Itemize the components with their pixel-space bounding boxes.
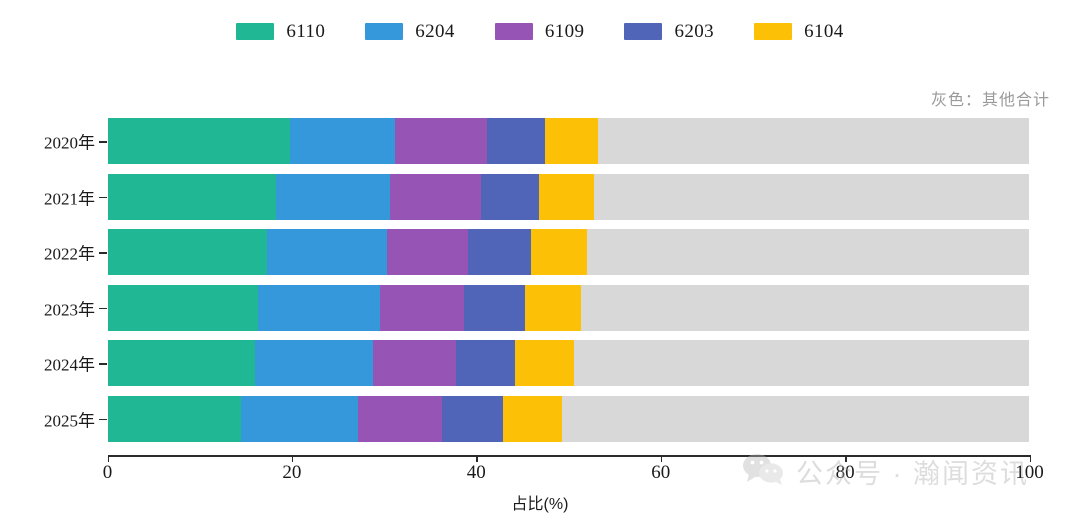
bar-segment-6203[interactable] [442, 396, 503, 442]
legend-swatch-icon [754, 23, 792, 40]
legend-swatch-icon [365, 23, 403, 40]
x-axis-title: 占比(%) [0, 490, 1080, 514]
x-tick-label: 80 [836, 462, 855, 484]
bar-segment-6204[interactable] [276, 174, 389, 220]
legend-swatch-icon [624, 23, 662, 40]
stacked-bar-chart: 61106204610962036104 灰色：其他合计 02040608010… [0, 0, 1080, 519]
x-tick-mark [476, 455, 478, 462]
y-tick-mark [99, 252, 107, 254]
x-tick-mark [108, 455, 110, 462]
x-tick-mark [1030, 455, 1032, 462]
y-tick-label: 2022年 [44, 240, 95, 265]
plot-area [108, 118, 1030, 455]
bar-segment-6104[interactable] [525, 285, 581, 331]
bar-segment-其他合计[interactable] [574, 340, 1029, 386]
x-axis-line [108, 455, 1030, 457]
bar-segment-其他合计[interactable] [562, 396, 1029, 442]
legend-item-label: 6109 [545, 22, 585, 41]
bar-segment-6204[interactable] [241, 396, 358, 442]
y-tick-label: 2024年 [44, 351, 95, 376]
x-tick-mark [845, 455, 847, 462]
bar-segment-6204[interactable] [290, 118, 395, 164]
legend-item-6109[interactable]: 6109 [495, 22, 585, 41]
bar-segment-其他合计[interactable] [587, 229, 1030, 275]
bar-segment-6203[interactable] [481, 174, 539, 220]
y-tick-label: 2021年 [44, 184, 95, 209]
legend-item-label: 6204 [415, 22, 455, 41]
bar-segment-6104[interactable] [539, 174, 594, 220]
legend-item-6104[interactable]: 6104 [754, 22, 844, 41]
bar-segment-6109[interactable] [380, 285, 464, 331]
bar-segment-6109[interactable] [358, 396, 442, 442]
y-tick-mark [99, 363, 107, 365]
bar-segment-6104[interactable] [545, 118, 598, 164]
bar-segment-6109[interactable] [390, 174, 481, 220]
y-tick-mark [99, 308, 107, 310]
x-tick-mark [661, 455, 663, 462]
bar-segment-6203[interactable] [487, 118, 545, 164]
bar-segment-6109[interactable] [395, 118, 487, 164]
bar-segment-6204[interactable] [258, 285, 381, 331]
bar-segment-6110[interactable] [108, 118, 291, 164]
x-tick-label: 0 [103, 462, 113, 484]
x-tick-mark [292, 455, 294, 462]
bar-segment-6110[interactable] [108, 229, 268, 275]
wechat-icon [742, 453, 786, 490]
x-tick-label: 60 [651, 462, 670, 484]
bar-segment-6104[interactable] [531, 229, 587, 275]
bar-segment-6110[interactable] [108, 285, 258, 331]
bar-segment-6109[interactable] [387, 229, 468, 275]
x-tick-label: 100 [1015, 462, 1044, 484]
legend-item-label: 6203 [674, 22, 714, 41]
watermark-text: 公众号 · 瀚闻资讯 [796, 452, 1029, 491]
legend-item-6204[interactable]: 6204 [365, 22, 455, 41]
bar-row [108, 174, 1030, 220]
y-tick-label: 2020年 [44, 129, 95, 154]
gray-series-note: 灰色：其他合计 [931, 86, 1050, 110]
bar-segment-6203[interactable] [468, 229, 531, 275]
bar-segment-6104[interactable] [515, 340, 574, 386]
bar-segment-6110[interactable] [108, 340, 256, 386]
bar-row [108, 396, 1030, 442]
legend-swatch-icon [495, 23, 533, 40]
y-tick-label: 2025年 [44, 406, 95, 431]
bar-segment-6109[interactable] [373, 340, 456, 386]
bar-segment-6110[interactable] [108, 174, 277, 220]
x-tick-label: 40 [467, 462, 486, 484]
chart-legend: 61106204610962036104 [0, 22, 1080, 41]
bar-segment-6110[interactable] [108, 396, 242, 442]
legend-item-6110[interactable]: 6110 [236, 22, 325, 41]
legend-item-label: 6110 [286, 22, 325, 41]
bar-segment-6204[interactable] [255, 340, 373, 386]
bar-segment-其他合计[interactable] [598, 118, 1029, 164]
bar-segment-6203[interactable] [456, 340, 515, 386]
bar-row [108, 340, 1030, 386]
y-tick-mark [99, 197, 107, 199]
bar-row [108, 285, 1030, 331]
y-tick-mark [99, 141, 107, 143]
legend-item-label: 6104 [804, 22, 844, 41]
x-tick-label: 20 [282, 462, 301, 484]
y-tick-label: 2023年 [44, 295, 95, 320]
bar-segment-6104[interactable] [503, 396, 562, 442]
bar-segment-其他合计[interactable] [581, 285, 1029, 331]
legend-item-6203[interactable]: 6203 [624, 22, 714, 41]
bar-segment-6203[interactable] [464, 285, 525, 331]
bar-row [108, 118, 1030, 164]
y-tick-mark [99, 419, 107, 421]
bar-segment-6204[interactable] [267, 229, 387, 275]
bar-segment-其他合计[interactable] [594, 174, 1029, 220]
watermark: 公众号 · 瀚闻资讯 [742, 452, 1029, 491]
legend-swatch-icon [236, 23, 274, 40]
bar-row [108, 229, 1030, 275]
